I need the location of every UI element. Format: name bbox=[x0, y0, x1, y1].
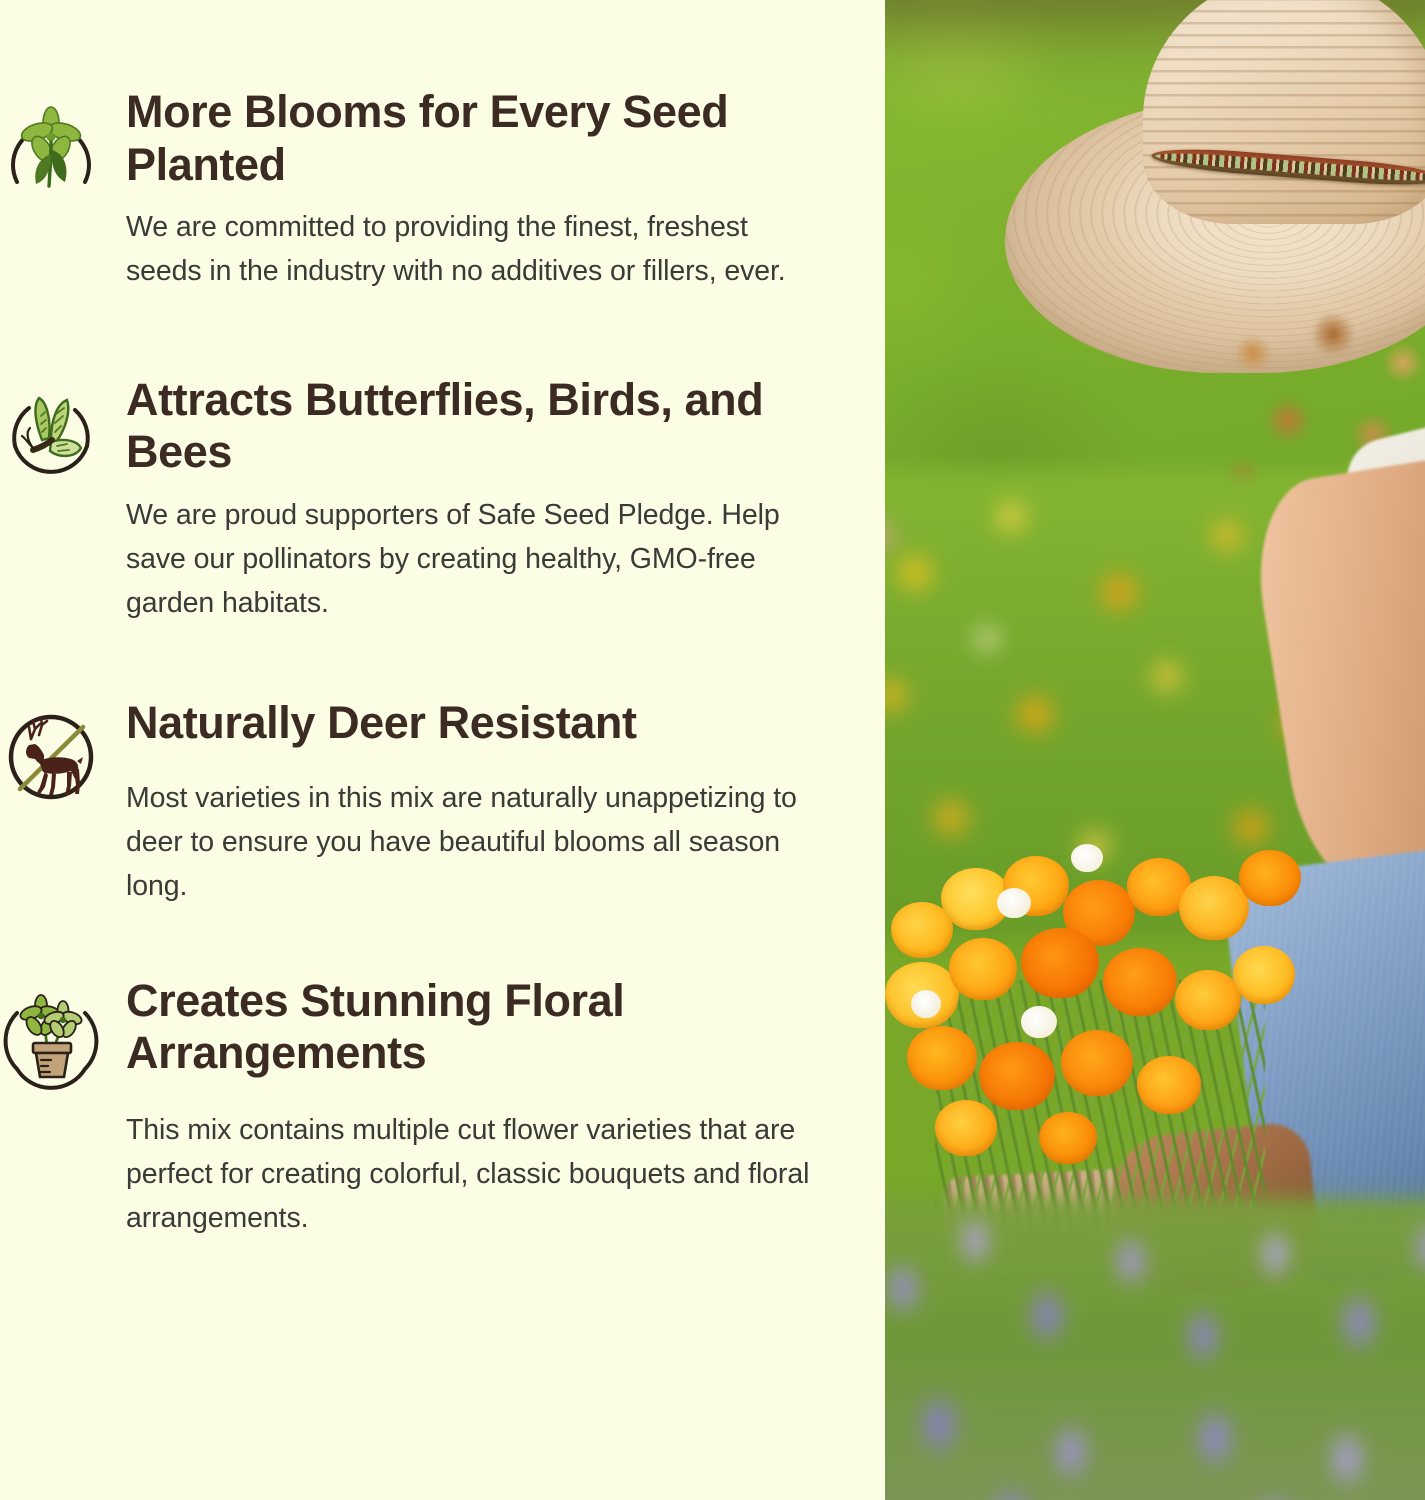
poppy-bloom bbox=[907, 1026, 977, 1090]
poppy-bloom bbox=[1061, 1030, 1133, 1096]
poppy-bloom bbox=[1239, 850, 1301, 906]
feature-body: This mix contains multiple cut flower va… bbox=[126, 1108, 826, 1241]
poppy-bloom bbox=[1175, 970, 1241, 1030]
poppy-bloom bbox=[1021, 928, 1099, 998]
white-bloom bbox=[911, 990, 941, 1018]
flower-sprout-icon bbox=[0, 86, 126, 202]
potted-flowers-icon bbox=[0, 975, 126, 1091]
purple-wildflowers-foreground bbox=[885, 1200, 1425, 1500]
poppy-bloom bbox=[1137, 1056, 1201, 1114]
features-panel: More Blooms for Every Seed Planted We ar… bbox=[0, 0, 885, 1500]
poppy-bloom bbox=[935, 1100, 997, 1156]
poppy-bloom bbox=[979, 1042, 1055, 1110]
feature-title: More Blooms for Every Seed Planted bbox=[126, 86, 825, 191]
no-deer-icon bbox=[0, 697, 126, 813]
feature-text: More Blooms for Every Seed Planted We ar… bbox=[126, 86, 885, 294]
lifestyle-photo bbox=[885, 0, 1425, 1500]
feature-title: Attracts Butterflies, Birds, and Bees bbox=[126, 374, 825, 479]
feature-item: Naturally Deer Resistant Most varieties … bbox=[0, 697, 885, 908]
white-bloom bbox=[1071, 844, 1103, 872]
feature-title: Creates Stunning Floral Arrangements bbox=[126, 975, 826, 1080]
feature-text: Attracts Butterflies, Birds, and Bees We… bbox=[126, 374, 885, 626]
white-bloom bbox=[1021, 1006, 1057, 1038]
poppy-bloom bbox=[1233, 946, 1295, 1004]
feature-infographic: More Blooms for Every Seed Planted We ar… bbox=[0, 0, 1425, 1500]
feature-item: Creates Stunning Floral Arrangements Thi… bbox=[0, 975, 885, 1241]
feature-item: Attracts Butterflies, Birds, and Bees We… bbox=[0, 374, 885, 626]
poppy-bloom bbox=[1039, 1112, 1097, 1164]
feature-text: Naturally Deer Resistant Most varieties … bbox=[126, 697, 885, 908]
feature-body: We are proud supporters of Safe Seed Ple… bbox=[126, 493, 825, 626]
feature-item: More Blooms for Every Seed Planted We ar… bbox=[0, 86, 885, 294]
poppy-bloom bbox=[1103, 948, 1177, 1016]
white-bloom bbox=[997, 888, 1031, 918]
poppy-bloom bbox=[949, 938, 1017, 1000]
feature-body: We are committed to providing the finest… bbox=[126, 205, 825, 293]
feature-body: Most varieties in this mix are naturally… bbox=[126, 776, 825, 909]
feature-title: Naturally Deer Resistant bbox=[126, 697, 825, 750]
hat-crown-weave bbox=[1143, 0, 1425, 224]
poppy-bloom bbox=[1179, 876, 1249, 940]
butterfly-icon bbox=[0, 374, 126, 490]
feature-text: Creates Stunning Floral Arrangements Thi… bbox=[126, 975, 885, 1241]
